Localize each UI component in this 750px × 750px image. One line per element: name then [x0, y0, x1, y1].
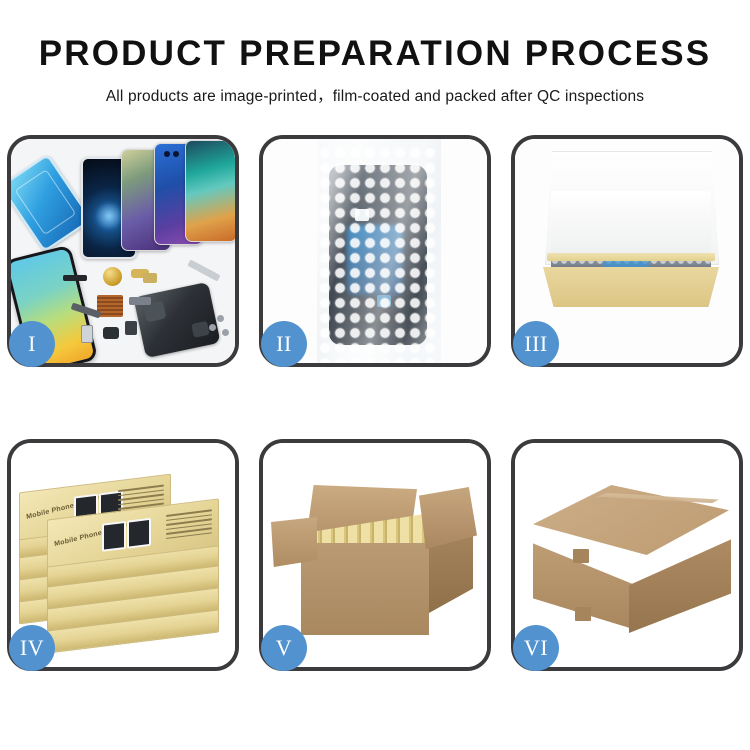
page-title: PRODUCT PREPARATION PROCESS [0, 36, 750, 71]
step-panel-3: III [511, 135, 743, 367]
retail-box-spec-lines [166, 509, 212, 543]
part-frame-strip-icon [129, 297, 151, 305]
speaker-coil-icon [103, 267, 122, 286]
retail-box-screen-image [127, 518, 151, 549]
lcd-screen-teal-orange-icon [185, 140, 235, 242]
step-panel-2: II [259, 135, 491, 367]
carton-front-face [301, 543, 429, 635]
mailer-box-tray [543, 267, 719, 307]
part-sim-tray-icon [81, 325, 93, 343]
step-badge-5: V [261, 625, 307, 671]
part-camera-module-icon [103, 327, 119, 339]
plastic-sheen [317, 139, 441, 363]
chip-grid-icon [97, 295, 123, 317]
retail-box-screen-image [102, 521, 126, 552]
header: PRODUCT PREPARATION PROCESS All products… [0, 0, 750, 106]
carton-flap-left [271, 517, 317, 567]
step-panel-4: Mobile Phone Spare Parts Mobile Phone Sp… [7, 439, 239, 671]
carton-handle-tab [573, 549, 589, 563]
part-connector-icon [63, 275, 87, 281]
mailer-box-rim [547, 253, 715, 261]
part-vibrator-icon [125, 321, 137, 335]
infographic-page: PRODUCT PREPARATION PROCESS All products… [0, 0, 750, 750]
step-badge-1: I [9, 321, 55, 367]
step-panel-6: VI [511, 439, 743, 671]
step-badge-3: III [513, 321, 559, 367]
part-gold-flex-icon [143, 273, 157, 283]
step-panel-5: V [259, 439, 491, 671]
step-badge-4: IV [9, 625, 55, 671]
part-screws-icon [217, 315, 224, 322]
page-subtitle: All products are image-printed，film-coat… [0, 84, 750, 106]
process-steps-grid: I II III [0, 135, 750, 671]
step-badge-2: II [261, 321, 307, 367]
step-badge-6: VI [513, 625, 559, 671]
phone-screen-fan [11, 139, 235, 269]
step-panel-1: I [7, 135, 239, 367]
retail-box-stack-front: Mobile Phone Spare Parts [47, 505, 217, 661]
carton-handle-tab [575, 607, 591, 621]
